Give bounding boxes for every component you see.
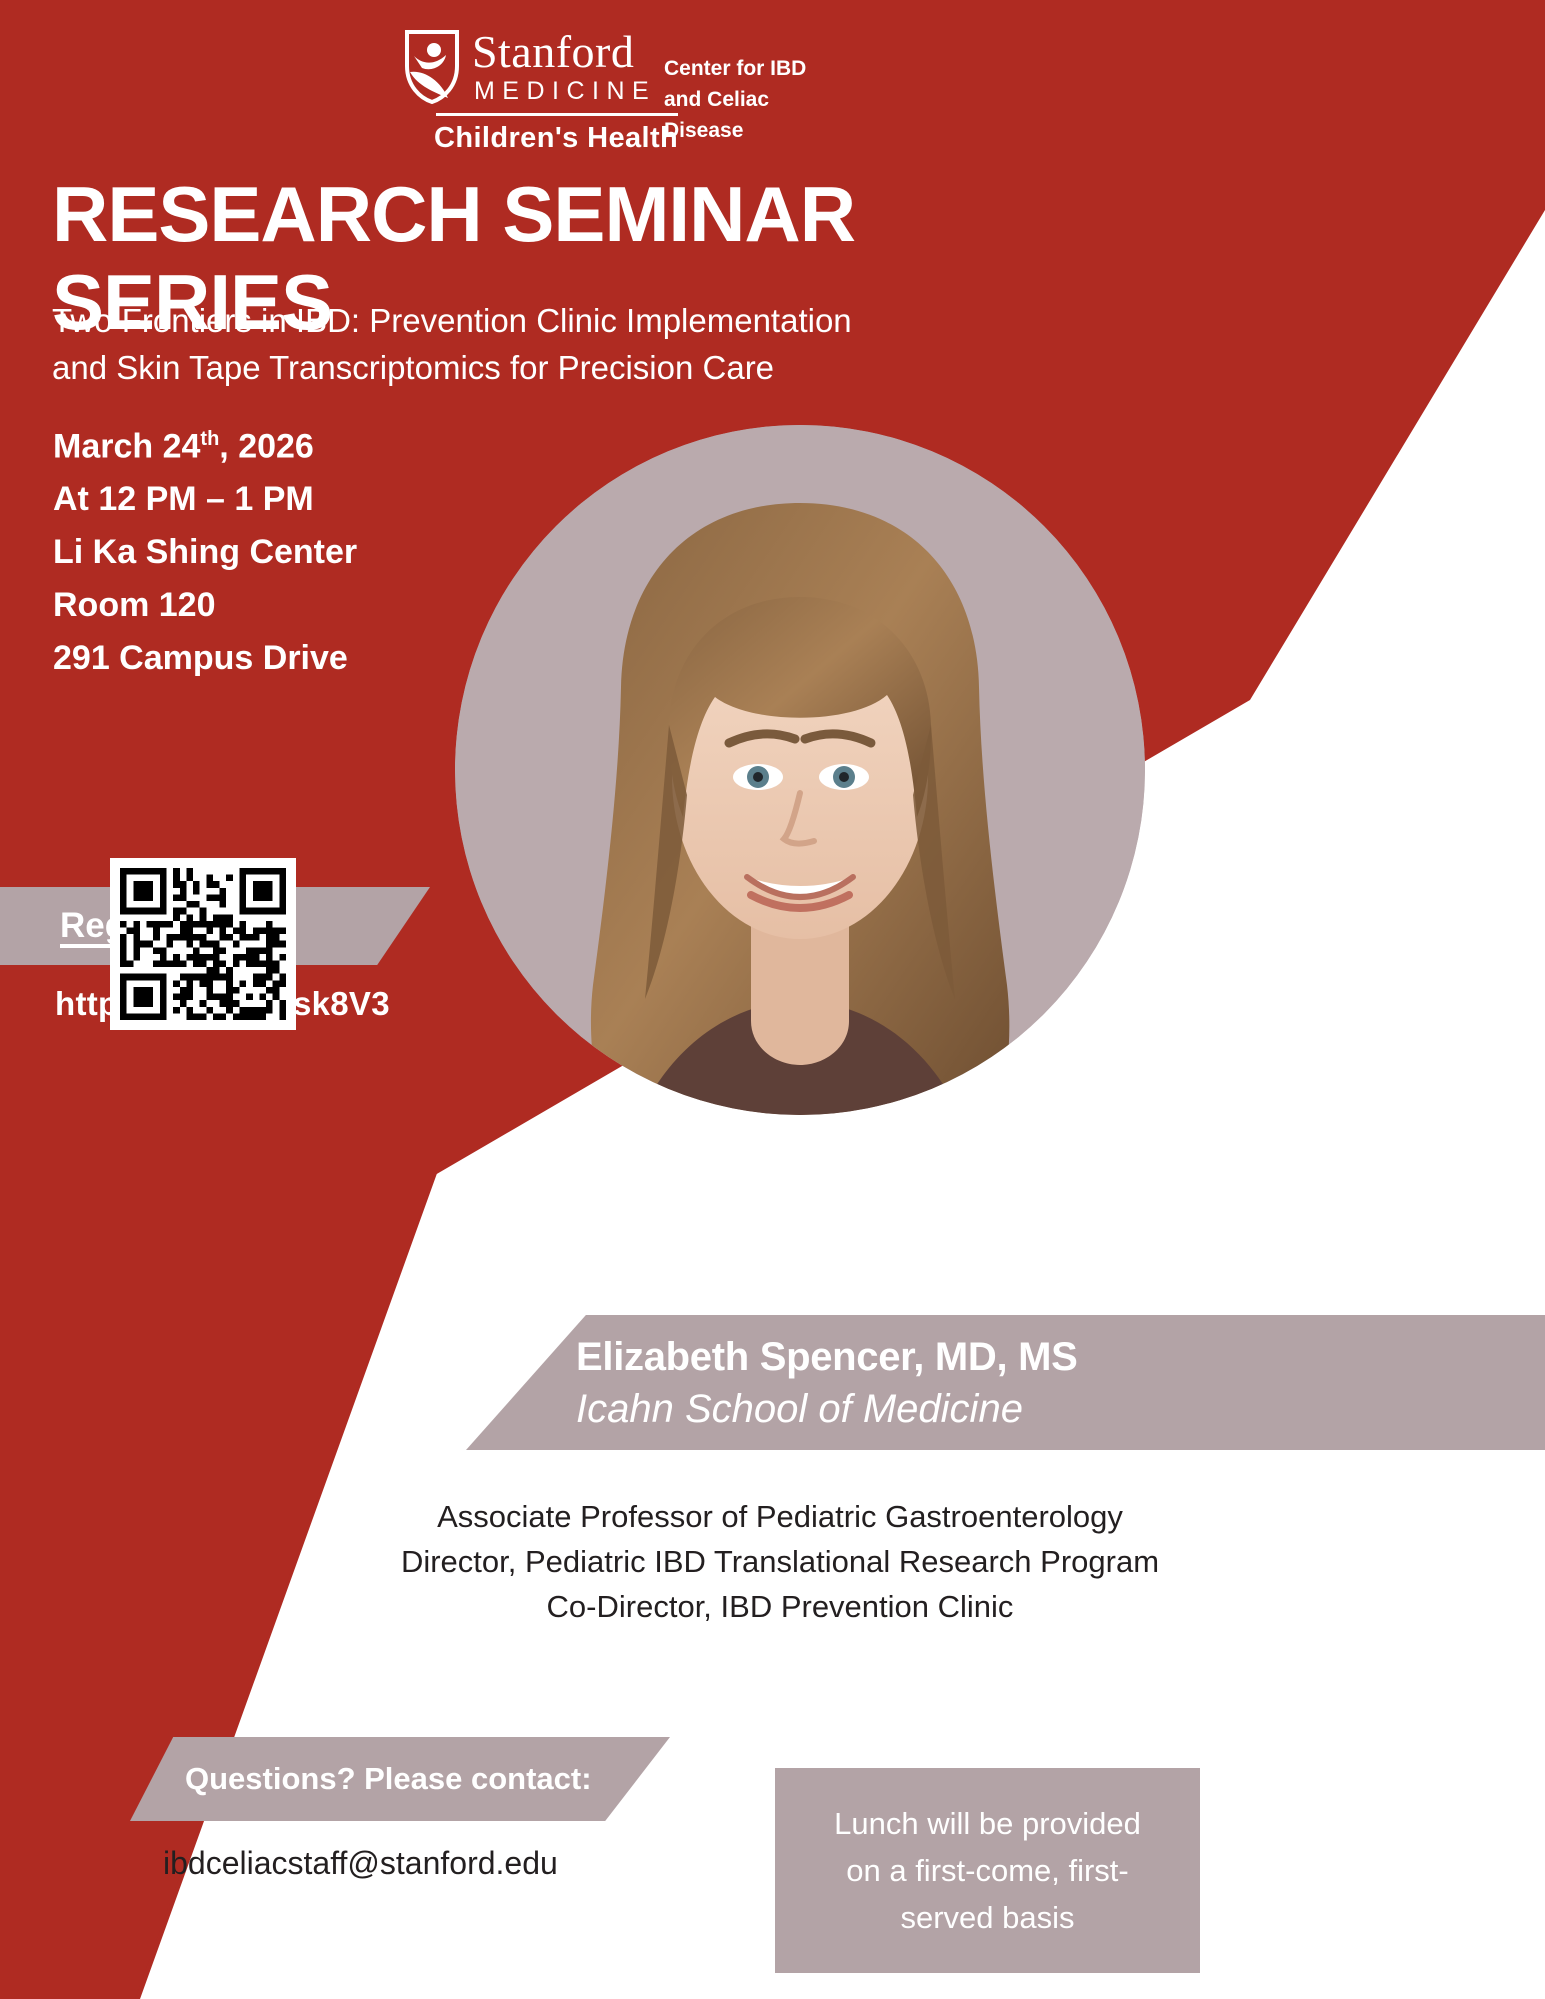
speaker-name-banner: Elizabeth Spencer, MD, MS Icahn School o… bbox=[466, 1315, 1545, 1450]
contact-email[interactable]: ibdceliacstaff@stanford.edu bbox=[163, 1845, 558, 1882]
event-date: March 24th, 2026 bbox=[53, 413, 483, 473]
logo-childrens-health-text: Children's Health bbox=[434, 122, 678, 155]
event-time: At 12 PM – 1 PM bbox=[53, 473, 483, 526]
event-room: Room 120 bbox=[53, 579, 483, 632]
lunch-note-box: Lunch will be provided on a first-come, … bbox=[775, 1768, 1200, 1973]
questions-contact-label: Questions? Please contact: bbox=[185, 1761, 592, 1797]
event-venue: Li Ka Shing Center bbox=[53, 526, 483, 579]
questions-banner: Questions? Please contact: bbox=[130, 1737, 670, 1821]
speaker-photo bbox=[455, 425, 1145, 1115]
logo-divider bbox=[436, 113, 678, 116]
logo-medicine-text: MEDICINE bbox=[474, 76, 656, 106]
event-date-suffix: , 2026 bbox=[219, 427, 314, 465]
seminar-subtitle: Two Frontiers in IBD: Prevention Clinic … bbox=[52, 297, 962, 391]
event-details: March 24th, 2026 At 12 PM – 1 PM Li Ka S… bbox=[53, 413, 483, 685]
event-address: 291 Campus Drive bbox=[53, 632, 483, 685]
speaker-credentials: Associate Professor of Pediatric Gastroe… bbox=[250, 1494, 1310, 1629]
stanford-medicine-logo: Stanford MEDICINE Children's Health Cent… bbox=[382, 28, 852, 163]
event-date-ordinal: th bbox=[200, 428, 219, 450]
event-date-prefix: March 24 bbox=[53, 427, 200, 465]
logo-lockup: Stanford MEDICINE Children's Health bbox=[382, 28, 678, 155]
center-for-ibd-celiac-label: Center for IBD and Celiac Disease bbox=[664, 53, 852, 146]
lunch-note-text: Lunch will be provided on a first-come, … bbox=[834, 1800, 1141, 1941]
logo-stanford-text: Stanford bbox=[472, 28, 656, 76]
speaker-headshot-illustration bbox=[455, 425, 1145, 1115]
logo-wordmark: Stanford MEDICINE bbox=[472, 28, 656, 106]
qr-code-icon[interactable] bbox=[110, 858, 296, 1030]
stanford-tree-shield-icon bbox=[404, 30, 460, 104]
speaker-name: Elizabeth Spencer, MD, MS bbox=[576, 1331, 1545, 1383]
speaker-affiliation: Icahn School of Medicine bbox=[576, 1383, 1545, 1435]
logo-row-primary: Stanford MEDICINE bbox=[404, 28, 656, 106]
